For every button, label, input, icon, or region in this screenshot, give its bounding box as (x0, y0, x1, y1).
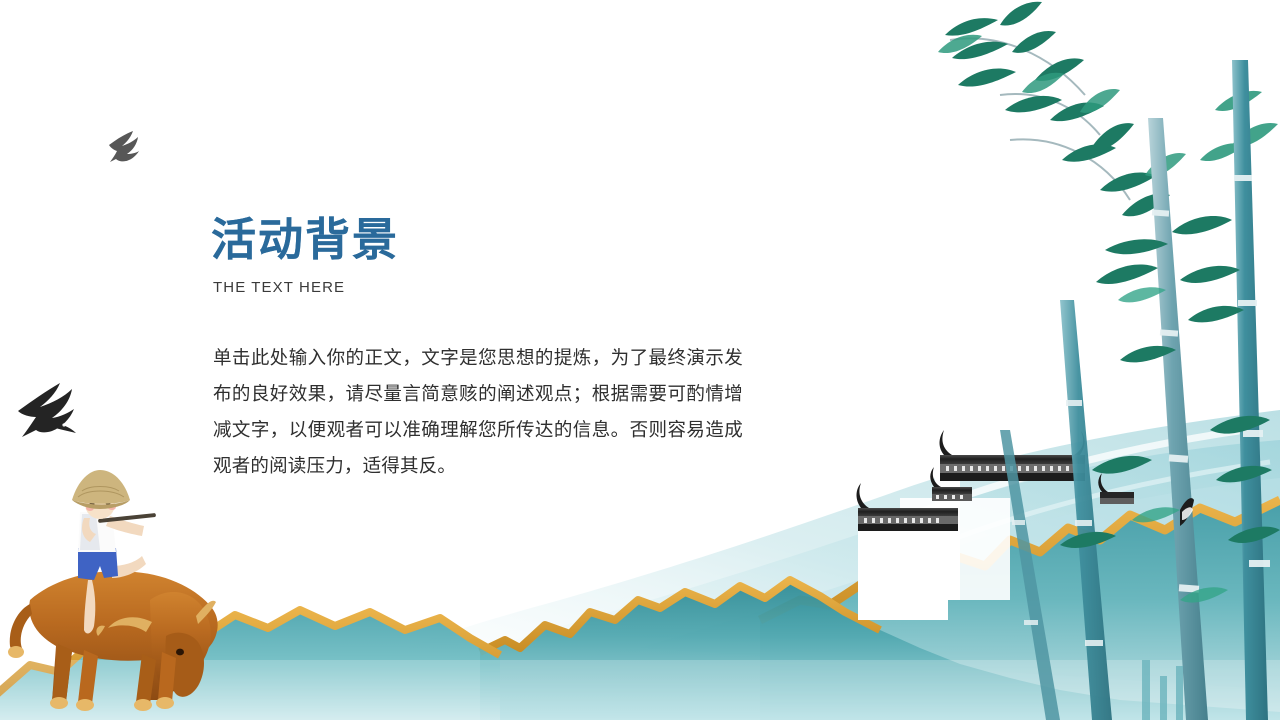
ink-mountains-left (0, 610, 500, 720)
body-paragraph: 单击此处输入你的正文，文字是您思想的提炼，为了最终演示发布的良好效果，请尽量言简… (213, 341, 743, 485)
slide-canvas: 活动背景 THE TEXT HERE 单击此处输入你的正文，文字是您思想的提炼，… (0, 0, 1280, 720)
page-title: 活动背景 (211, 216, 771, 263)
swallow-small (109, 131, 139, 162)
boy-on-ox (8, 470, 218, 711)
ink-mountains-far (760, 500, 1280, 720)
swallow-large (18, 383, 76, 437)
page-subtitle: THE TEXT HERE (213, 279, 771, 296)
bamboo-illustration (938, 2, 1280, 720)
text-content-block: 活动背景 THE TEXT HERE 单击此处输入你的正文，文字是您思想的提炼，… (211, 216, 771, 485)
huizhou-building (857, 430, 1135, 620)
perched-bird-icon (1180, 498, 1194, 526)
ink-mountains-mid (480, 580, 1280, 720)
